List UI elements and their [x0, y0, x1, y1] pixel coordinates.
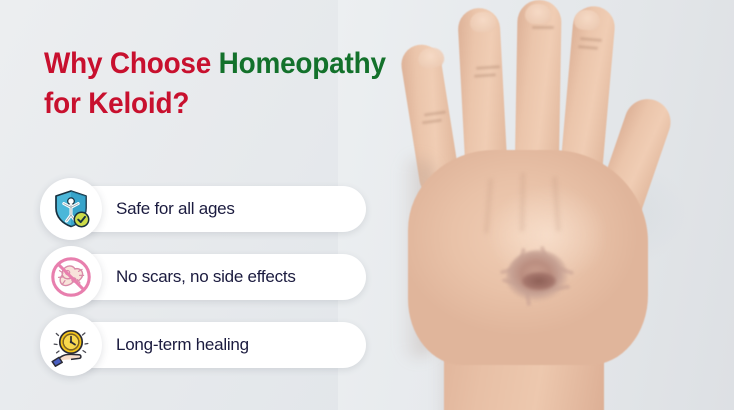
headline-line-1: Why Choose Homeopathy	[44, 44, 397, 84]
keloid-scar	[498, 246, 576, 308]
feature-label: No scars, no side effects	[116, 254, 296, 300]
feature-icon-bubble	[40, 178, 102, 240]
headline-line-2: for Keloid?	[44, 84, 397, 124]
feature-label: Long-term healing	[116, 322, 249, 368]
shield-person-check-icon	[50, 188, 92, 230]
banner-headline: Why Choose Homeopathy for Keloid?	[44, 44, 397, 124]
feature-icon-bubble	[40, 246, 102, 308]
scar-center	[522, 272, 556, 290]
knuckle-crease	[532, 26, 554, 29]
fingernail	[525, 4, 551, 24]
fingernail	[469, 11, 496, 32]
hand-holding-clock-icon	[49, 323, 93, 367]
no-scars-prohibition-icon	[49, 255, 93, 299]
headline-homeopathy: Homeopathy	[219, 47, 386, 80]
headline-why-choose: Why Choose	[44, 47, 211, 80]
feature-icon-bubble	[40, 314, 102, 376]
keloid-homeopathy-banner: Why Choose Homeopathy for Keloid? Safe f…	[0, 0, 734, 410]
feature-label: Safe for all ages	[116, 186, 235, 232]
hand-tendon	[519, 172, 525, 232]
